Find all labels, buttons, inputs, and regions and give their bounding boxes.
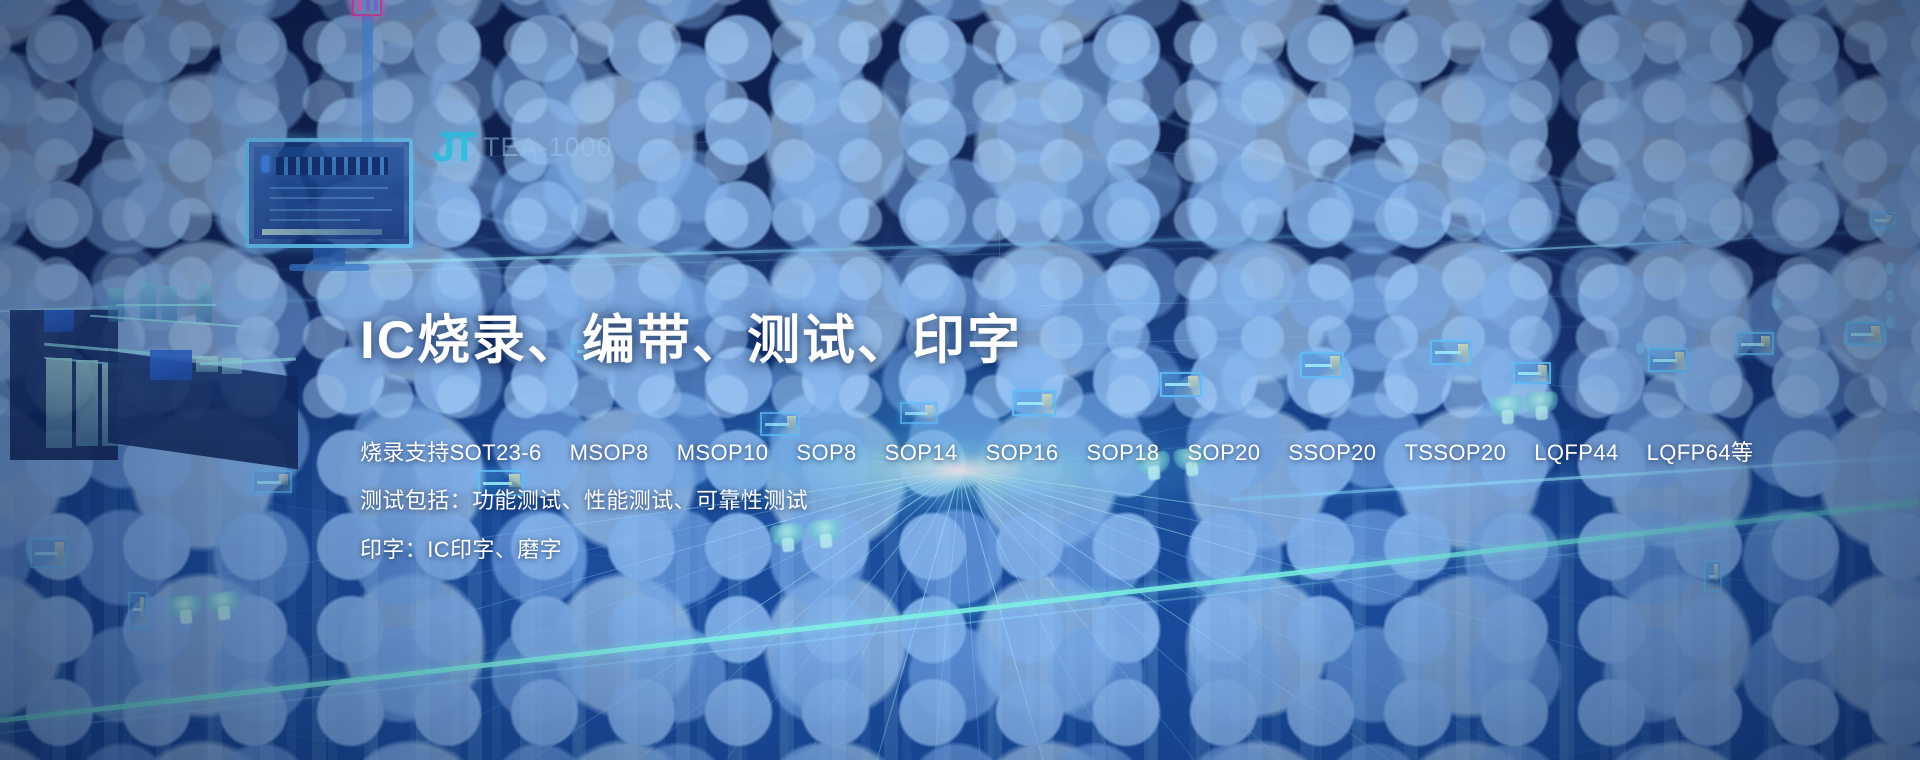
package-msop8: MSOP8	[570, 442, 649, 464]
package-lqfp44: LQFP44	[1534, 442, 1618, 464]
banner-detail-list: 烧录支持SOT23-6MSOP8MSOP10SOP8SOP14SOP16SOP1…	[360, 442, 1660, 561]
banner-detail-line-burn: 烧录支持SOT23-6MSOP8MSOP10SOP8SOP14SOP16SOP1…	[360, 442, 1660, 464]
package-lqfp64: LQFP64等	[1647, 442, 1754, 464]
banner-detail-line-test: 测试包括：功能测试、性能测试、可靠性测试	[360, 490, 1660, 512]
package-sop14: SOP14	[885, 442, 958, 464]
package-msop10: MSOP10	[677, 442, 769, 464]
package-sop18: SOP18	[1087, 442, 1160, 464]
package-sop8: SOP8	[796, 442, 856, 464]
package-ssop20: SSOP20	[1288, 442, 1376, 464]
burn-support-prefix: 烧录支持SOT23-6	[360, 442, 542, 464]
package-tssop20: TSSOP20	[1404, 442, 1506, 464]
package-sop20: SOP20	[1187, 442, 1260, 464]
banner-headline: IC烧录、编带、测试、印字	[360, 312, 1660, 369]
banner-copy-block: IC烧录、编带、测试、印字 烧录支持SOT23-6MSOP8MSOP10SOP8…	[360, 312, 1660, 561]
banner-detail-line-marking: 印字：IC印字、磨字	[360, 539, 1660, 561]
package-sop16: SOP16	[986, 442, 1059, 464]
ic-service-banner: JT TEA-1000 IC烧录、编带、测试、印字 烧录支持SOT	[0, 0, 1920, 760]
